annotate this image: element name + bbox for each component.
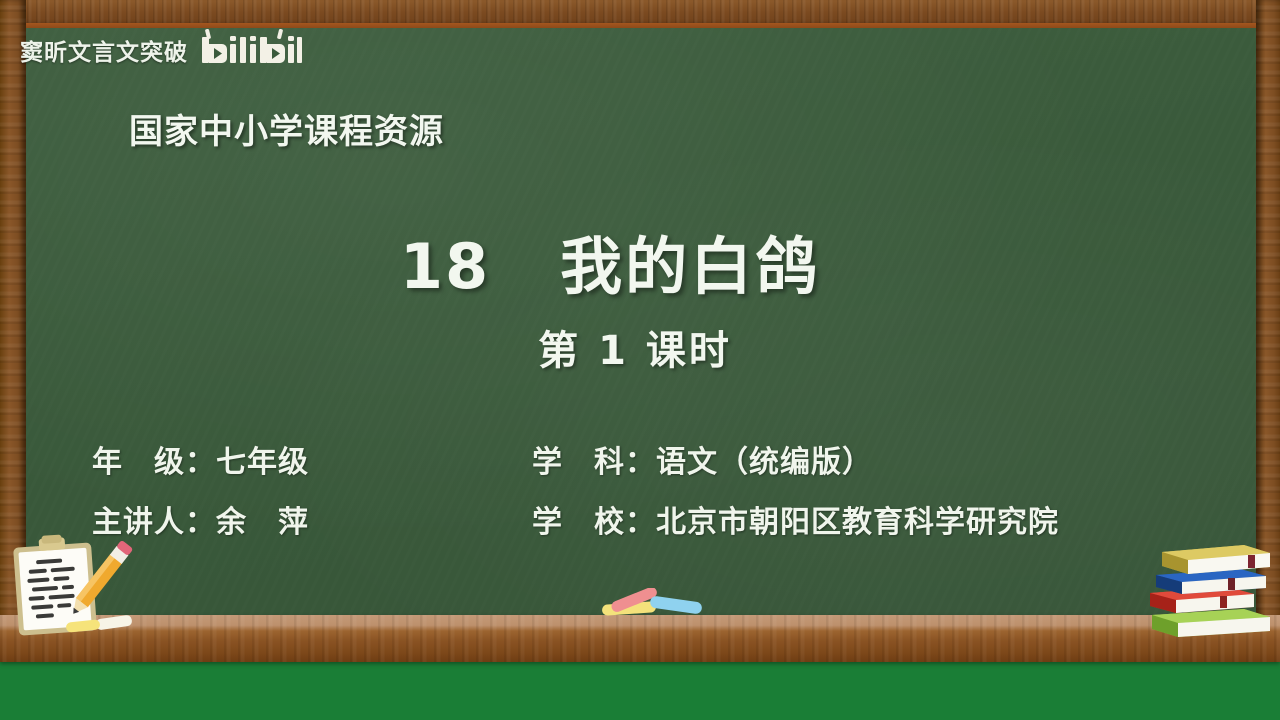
lesson-name: 我的白鸽 bbox=[560, 216, 820, 306]
chalk-ledge bbox=[0, 615, 1280, 662]
meta-school-value: 北京市朝阳区教育科学研究院 bbox=[656, 497, 1059, 541]
meta-subject-label: 学 科： bbox=[532, 437, 656, 481]
meta-grade-value: 七年级 bbox=[216, 437, 309, 481]
meta-school-label: 学 校： bbox=[532, 497, 656, 541]
meta-row: 年 级： 七年级 学 科： 语文（统编版） bbox=[92, 437, 1202, 481]
meta-grade: 年 级： 七年级 bbox=[92, 437, 532, 481]
lesson-session: 第 1 课时 bbox=[0, 318, 1275, 376]
meta-subject: 学 科： 语文（统编版） bbox=[532, 437, 873, 481]
lesson-number: 18 bbox=[400, 230, 490, 303]
meta-lecturer: 主讲人： 余 萍 bbox=[92, 497, 532, 541]
meta-lecturer-value: 余 萍 bbox=[216, 497, 309, 541]
bottom-green-band bbox=[0, 660, 1280, 720]
slide-root: 窦昕文言文突破 bbox=[0, 0, 1280, 720]
meta-school: 学 校： 北京市朝阳区教育科学研究院 bbox=[532, 497, 1059, 541]
chalk-sticks-icon bbox=[600, 588, 710, 620]
stacked-books-icon bbox=[1148, 525, 1274, 640]
bilibili-logo-icon bbox=[200, 28, 304, 68]
lesson-title-row: 18 我的白鸽 bbox=[0, 216, 1280, 306]
uploader-name: 窦昕文言文突破 bbox=[20, 33, 188, 67]
meta-grade-label: 年 级： bbox=[92, 437, 216, 481]
watermark: 窦昕文言文突破 bbox=[20, 30, 304, 70]
frame-top bbox=[0, 0, 1280, 28]
lesson-meta: 年 级： 七年级 学 科： 语文（统编版） 主讲人： 余 萍 学 校： 北京市朝… bbox=[92, 437, 1202, 557]
clipboard-with-pencil-icon bbox=[8, 533, 138, 638]
meta-row: 主讲人： 余 萍 学 校： 北京市朝阳区教育科学研究院 bbox=[92, 497, 1202, 541]
site-title: 国家中小学课程资源 bbox=[129, 104, 444, 153]
meta-subject-value: 语文（统编版） bbox=[656, 437, 873, 481]
